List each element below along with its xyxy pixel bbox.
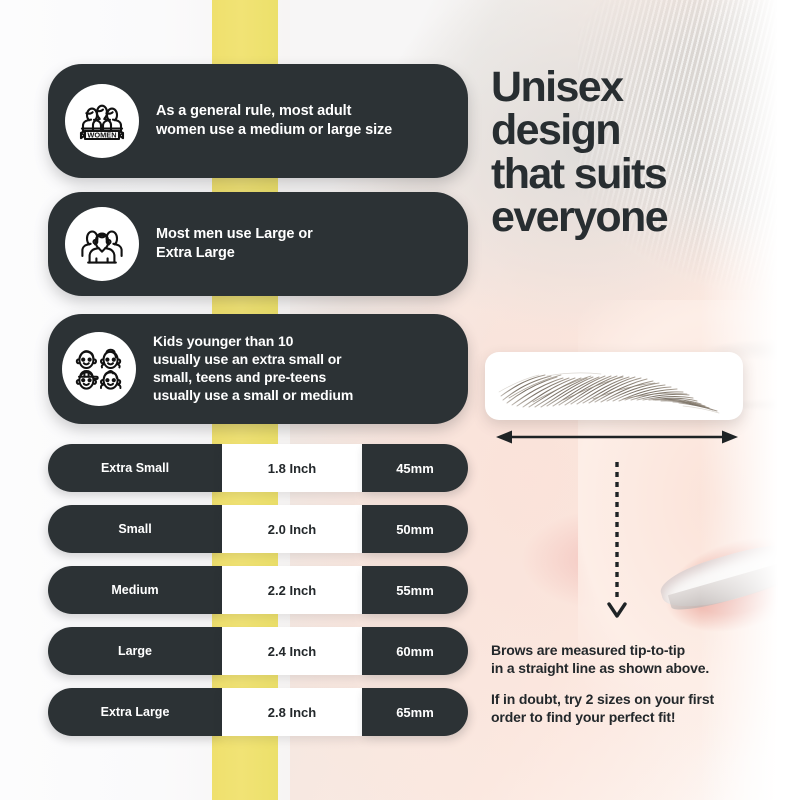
note-line: Brows are measured tip-to-tip xyxy=(491,641,781,659)
table-row: Small 2.0 Inch 50mm xyxy=(48,505,468,553)
headline-line-4: everyone xyxy=(491,196,791,239)
size-inch-cell: 2.0 Inch xyxy=(222,505,362,553)
size-inch-cell: 2.2 Inch xyxy=(222,566,362,614)
note-measurement: Brows are measured tip-to-tip in a strai… xyxy=(491,641,781,678)
table-row: Large 2.4 Inch 60mm xyxy=(48,627,468,675)
size-inch-label: 2.2 Inch xyxy=(268,583,316,598)
size-inch-cell: 1.8 Inch xyxy=(222,444,362,492)
size-name-label: Large xyxy=(118,644,152,658)
headline-line-1: Unisex xyxy=(491,66,791,109)
info-card-men: Most men use Large or Extra Large xyxy=(48,192,468,296)
kids-faces-icon xyxy=(62,332,136,406)
info-card-women: WOMEN As a general rule, most adult wome… xyxy=(48,64,468,178)
size-name-label: Medium xyxy=(111,583,158,597)
size-mm-cell: 60mm xyxy=(362,627,468,675)
text-line: Kids younger than 10 xyxy=(153,333,353,351)
page-title: Unisex design that suits everyone xyxy=(491,66,791,240)
size-name-cell: Small xyxy=(48,505,222,553)
headline-line-3: that suits xyxy=(491,153,791,196)
note-line: in a straight line as shown above. xyxy=(491,659,781,677)
table-row: Extra Small 1.8 Inch 45mm xyxy=(48,444,468,492)
size-name-label: Extra Small xyxy=(101,461,169,475)
note-line: If in doubt, try 2 sizes on your first xyxy=(491,690,791,708)
table-row: Medium 2.2 Inch 55mm xyxy=(48,566,468,614)
info-card-kids-text: Kids younger than 10 usually use an extr… xyxy=(153,333,353,405)
women-banner-text: WOMEN xyxy=(87,131,116,140)
text-line: usually use a small or medium xyxy=(153,387,353,405)
size-mm-label: 55mm xyxy=(396,583,434,598)
size-mm-label: 65mm xyxy=(396,705,434,720)
size-mm-cell: 45mm xyxy=(362,444,468,492)
size-name-cell: Extra Small xyxy=(48,444,222,492)
text-line: As a general rule, most adult xyxy=(156,102,392,121)
size-mm-label: 45mm xyxy=(396,461,434,476)
size-inch-label: 2.4 Inch xyxy=(268,644,316,659)
note-advice: If in doubt, try 2 sizes on your first o… xyxy=(491,690,791,727)
size-mm-cell: 55mm xyxy=(362,566,468,614)
info-card-women-text: As a general rule, most adult women use … xyxy=(156,102,392,140)
size-inch-cell: 2.4 Inch xyxy=(222,627,362,675)
men-group-icon xyxy=(65,207,139,281)
size-mm-label: 50mm xyxy=(396,522,434,537)
size-mm-cell: 50mm xyxy=(362,505,468,553)
women-group-icon: WOMEN xyxy=(65,84,139,158)
size-name-cell: Extra Large xyxy=(48,688,222,736)
eyebrow-sample-card xyxy=(485,352,743,420)
note-line: order to find your perfect fit! xyxy=(491,708,791,726)
text-line: small, teens and pre-teens xyxy=(153,369,353,387)
size-name-label: Extra Large xyxy=(101,705,170,719)
size-inch-cell: 2.8 Inch xyxy=(222,688,362,736)
size-mm-cell: 65mm xyxy=(362,688,468,736)
size-inch-label: 1.8 Inch xyxy=(268,461,316,476)
info-card-men-text: Most men use Large or Extra Large xyxy=(156,225,313,263)
eyebrow-illustration xyxy=(493,356,735,416)
dashed-down-arrow-icon xyxy=(604,462,630,622)
text-line: Extra Large xyxy=(156,244,313,263)
headline-line-2: design xyxy=(491,109,791,152)
size-name-cell: Large xyxy=(48,627,222,675)
size-name-cell: Medium xyxy=(48,566,222,614)
size-mm-label: 60mm xyxy=(396,644,434,659)
measure-arrow-icon xyxy=(496,428,738,446)
size-inch-label: 2.8 Inch xyxy=(268,705,316,720)
info-card-kids: Kids younger than 10 usually use an extr… xyxy=(48,314,468,424)
text-line: women use a medium or large size xyxy=(156,121,392,140)
text-line: usually use an extra small or xyxy=(153,351,353,369)
text-line: Most men use Large or xyxy=(156,225,313,244)
size-name-label: Small xyxy=(118,522,151,536)
size-inch-label: 2.0 Inch xyxy=(268,522,316,537)
table-row: Extra Large 2.8 Inch 65mm xyxy=(48,688,468,736)
